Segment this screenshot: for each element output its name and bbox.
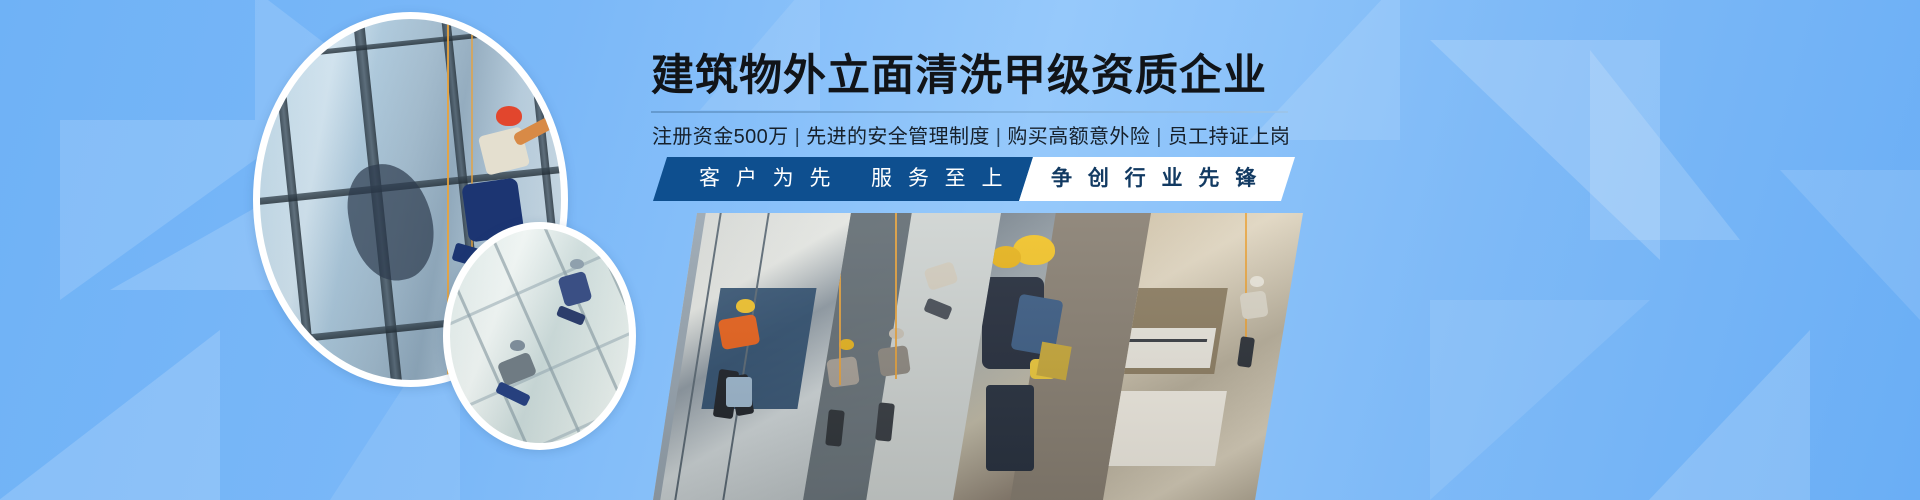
slogan-service-supreme: 服 务 至 上 — [871, 157, 1008, 201]
photo-collage — [653, 213, 1298, 500]
oval-photo-rope-access-workers — [443, 222, 636, 450]
title-divider — [651, 111, 1288, 113]
background-triangle-decoration — [1590, 50, 1740, 240]
subtitle-separator: | — [1156, 126, 1162, 148]
subtitle-separator: | — [996, 126, 1002, 148]
slogan-bar: 客 户 为 先 服 务 至 上 争 创 行 业 先 锋 — [653, 157, 1293, 201]
worker-figure — [486, 340, 558, 417]
background-triangle-decoration — [0, 330, 220, 500]
background-triangle-decoration — [1780, 170, 1920, 320]
subtitle-item: 注册资金500万 — [652, 126, 789, 148]
subtitle-item: 先进的安全管理制度 — [806, 126, 990, 148]
slogan-customer-first: 客 户 为 先 — [699, 157, 836, 201]
background-triangle-decoration — [1630, 330, 1810, 500]
subtitle-item: 员工持证上岗 — [1168, 126, 1290, 148]
subtitle-separator: | — [795, 126, 801, 148]
page-title: 建筑物外立面清洗甲级资质企业 — [651, 52, 1291, 100]
background-triangle-decoration — [1430, 300, 1650, 500]
slogan-industry-pioneer: 争 创 行 业 先 锋 — [1051, 157, 1261, 201]
subtitle-item: 购买高额意外险 — [1007, 126, 1150, 148]
background-triangle-decoration — [1430, 40, 1660, 260]
worker-figure — [550, 259, 614, 332]
promotional-banner: 建筑物外立面清洗甲级资质企业 注册资金500万|先进的安全管理制度|购买高额意外… — [0, 0, 1920, 500]
subtitle-features: 注册资金500万|先进的安全管理制度|购买高额意外险|员工持证上岗 — [652, 120, 1292, 149]
